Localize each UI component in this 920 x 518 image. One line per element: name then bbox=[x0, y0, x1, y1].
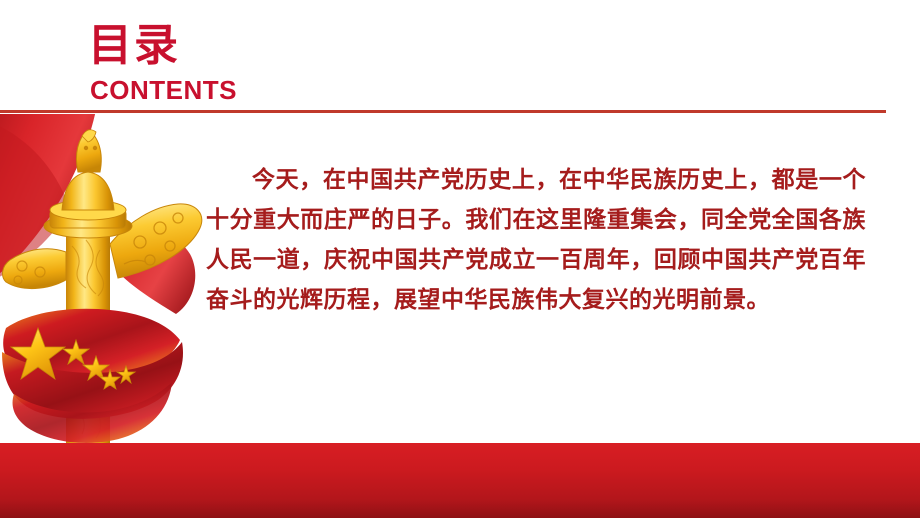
footer-band bbox=[0, 443, 920, 518]
page-title-chinese: 目录 bbox=[88, 22, 180, 70]
header-divider bbox=[0, 110, 886, 113]
page-title-english: CONTENTS bbox=[90, 76, 237, 104]
slide-header: 目录 CONTENTS bbox=[0, 0, 920, 114]
presentation-slide: 目录 CONTENTS bbox=[0, 0, 920, 518]
huabiao-column-decoration bbox=[0, 114, 215, 444]
body-paragraph: 今天，在中国共产党历史上，在中华民族历史上，都是一个十分重大而庄严的日子。我们在… bbox=[206, 160, 866, 320]
five-star-red-flag bbox=[2, 309, 183, 443]
